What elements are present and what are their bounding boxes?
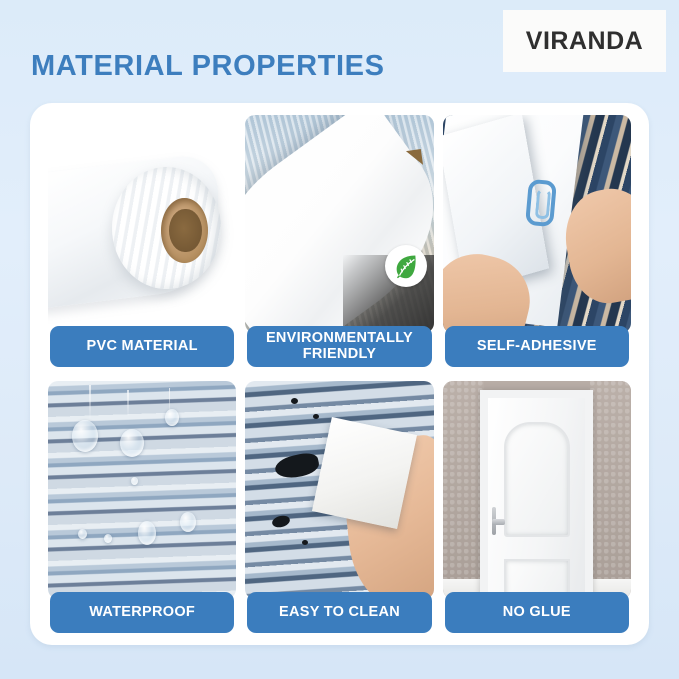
peel-artwork — [443, 115, 631, 333]
pvc-roll-artwork — [48, 115, 236, 333]
feature-card-environmentally-friendly[interactable]: ENVIRONMENTALLY FRIENDLY — [245, 115, 433, 367]
pvc-roll-image — [48, 115, 236, 333]
features-panel: PVC MATERIAL — [30, 103, 649, 645]
feature-label-easy-to-clean: EASY TO CLEAN — [247, 592, 431, 633]
feature-label-environmentally-friendly: ENVIRONMENTALLY FRIENDLY — [247, 326, 431, 367]
feature-card-waterproof[interactable]: WATERPROOF — [48, 381, 236, 633]
clean-artwork — [245, 381, 433, 599]
paperclip-inner-icon — [535, 189, 552, 220]
water-droplet-8 — [131, 477, 138, 485]
features-grid: PVC MATERIAL — [48, 115, 631, 633]
waterproof-image — [48, 381, 236, 599]
easy-to-clean-image — [245, 381, 433, 599]
beach-artwork — [245, 115, 433, 333]
feature-card-pvc-material[interactable]: PVC MATERIAL — [48, 115, 236, 367]
door-handle — [492, 519, 505, 525]
feature-card-no-glue[interactable]: NO GLUE — [443, 381, 631, 633]
stain-small-2 — [313, 414, 319, 419]
roll-core-hole-shape — [169, 209, 201, 253]
waterproof-artwork — [48, 381, 236, 599]
self-adhesive-image — [443, 115, 631, 333]
no-glue-image — [443, 381, 631, 599]
door-artwork — [443, 381, 631, 599]
stain-small-4 — [302, 540, 308, 545]
feature-label-no-glue: NO GLUE — [445, 592, 629, 633]
infographic-page: VIRANDA MATERIAL PROPERTIES PVC MATERIAL — [0, 0, 679, 679]
roll-edge-corner — [406, 149, 423, 167]
door-panel-top — [504, 422, 570, 537]
feature-card-easy-to-clean[interactable]: EASY TO CLEAN — [245, 381, 433, 633]
water-droplet-3 — [165, 409, 179, 426]
feature-label-pvc-material: PVC MATERIAL — [50, 326, 234, 367]
feature-card-self-adhesive[interactable]: SELF-ADHESIVE — [443, 115, 631, 367]
water-streak-1 — [89, 385, 91, 419]
striped-wood-background — [48, 381, 236, 599]
water-droplet-4 — [138, 521, 156, 545]
door-frame — [480, 390, 593, 599]
page-title: MATERIAL PROPERTIES — [31, 50, 385, 83]
feature-label-waterproof: WATERPROOF — [50, 592, 234, 633]
door-slab — [488, 398, 585, 599]
feature-label-self-adhesive: SELF-ADHESIVE — [445, 326, 629, 367]
water-droplet-5 — [180, 512, 196, 532]
beach-pier-image — [245, 115, 433, 333]
water-droplet-2 — [120, 429, 144, 457]
brand-logo-box: VIRANDA — [503, 10, 666, 72]
water-streak-2 — [127, 390, 129, 416]
brand-logo-text: VIRANDA — [526, 27, 643, 56]
wall-right — [590, 381, 631, 599]
wall-left — [443, 381, 484, 599]
leaf-icon — [385, 245, 427, 287]
